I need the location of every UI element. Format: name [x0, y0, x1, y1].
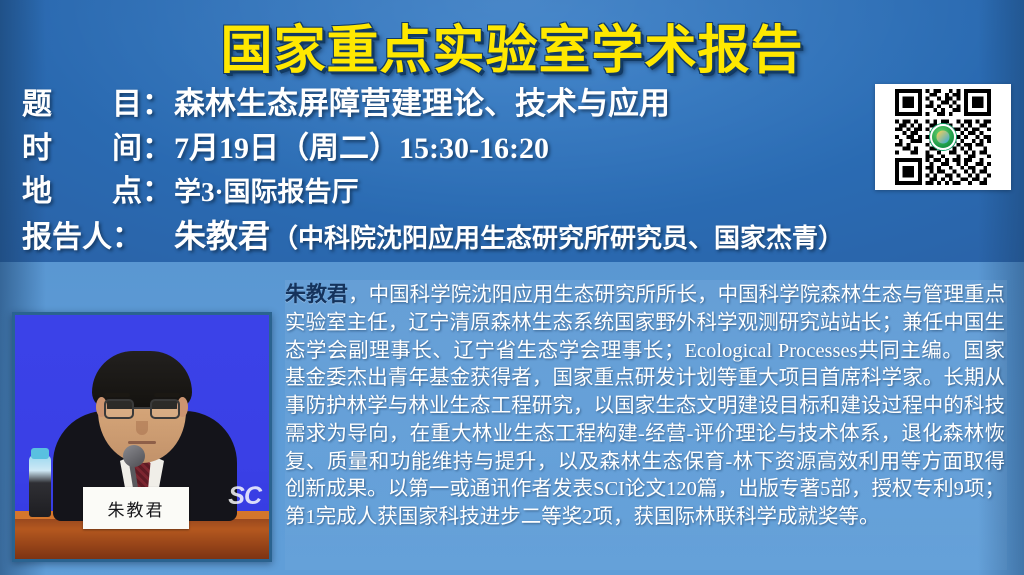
photo-mouth [128, 441, 156, 444]
photo-eyebrow-left [104, 393, 130, 397]
info-value-topic: 森林生态屏障营建理论、技术与应用 [174, 82, 670, 127]
speaker-affiliation: （中科院沈阳应用生态研究所研究员、国家杰青） [272, 220, 844, 257]
institute-logo-icon [930, 124, 956, 150]
photo-lens-right [150, 399, 180, 419]
poster-canvas: 国家重点实验室学术报告 题 目： 森林生态屏障营建理论、技术与应用 时 间： 7… [0, 0, 1024, 575]
photo-lens-left [104, 399, 134, 419]
info-label-time: 时 间： [22, 127, 174, 170]
glasses-icon [104, 399, 180, 419]
info-row-time: 时 间： 7月19日（周二）15:30-16:20 [22, 127, 882, 170]
info-row-venue: 地 点： 学3·国际报告厅 [22, 170, 882, 213]
photo-eyebrow-right [154, 393, 180, 397]
page-title: 国家重点实验室学术报告 [0, 8, 1024, 83]
info-value-time: 7月19日（周二）15:30-16:20 [174, 127, 549, 170]
info-label-speaker: 报告人： [22, 216, 174, 259]
info-row-topic: 题 目： 森林生态屏障营建理论、技术与应用 [22, 82, 882, 127]
photo-watermark: SC [228, 482, 261, 511]
info-label-topic: 题 目： [22, 83, 174, 126]
bio-text: ，中国科学院沈阳应用生态研究所所长，中国科学院森林生态与管理重点实验室主任，辽宁… [285, 284, 1005, 528]
photo-nameplate-text: 朱教君 [108, 496, 165, 521]
photo-nose [136, 421, 148, 435]
speaker-bio: 朱教君，中国科学院沈阳应用生态研究所所长，中国科学院森林生态与管理重点实验室主任… [285, 280, 1007, 570]
speaker-photo: 朱教君 SC [12, 312, 272, 562]
photo-lens-bridge [134, 407, 150, 409]
bio-speaker-name: 朱教君 [285, 282, 348, 306]
photo-nameplate: 朱教君 [83, 487, 189, 529]
speaker-name: 朱教君 [174, 213, 270, 259]
info-row-speaker: 报告人： 朱教君 （中科院沈阳应用生态研究所研究员、国家杰青） [22, 213, 882, 259]
water-bottle-cap [31, 448, 49, 459]
info-label-venue: 地 点： [22, 170, 174, 213]
qr-matrix [880, 89, 1006, 185]
info-value-venue: 学3·国际报告厅 [174, 173, 359, 212]
info-block: 题 目： 森林生态屏障营建理论、技术与应用 时 间： 7月19日（周二）15:3… [22, 82, 882, 259]
microphone-icon [123, 445, 145, 467]
water-bottle [29, 455, 51, 517]
qr-code[interactable] [875, 84, 1011, 190]
